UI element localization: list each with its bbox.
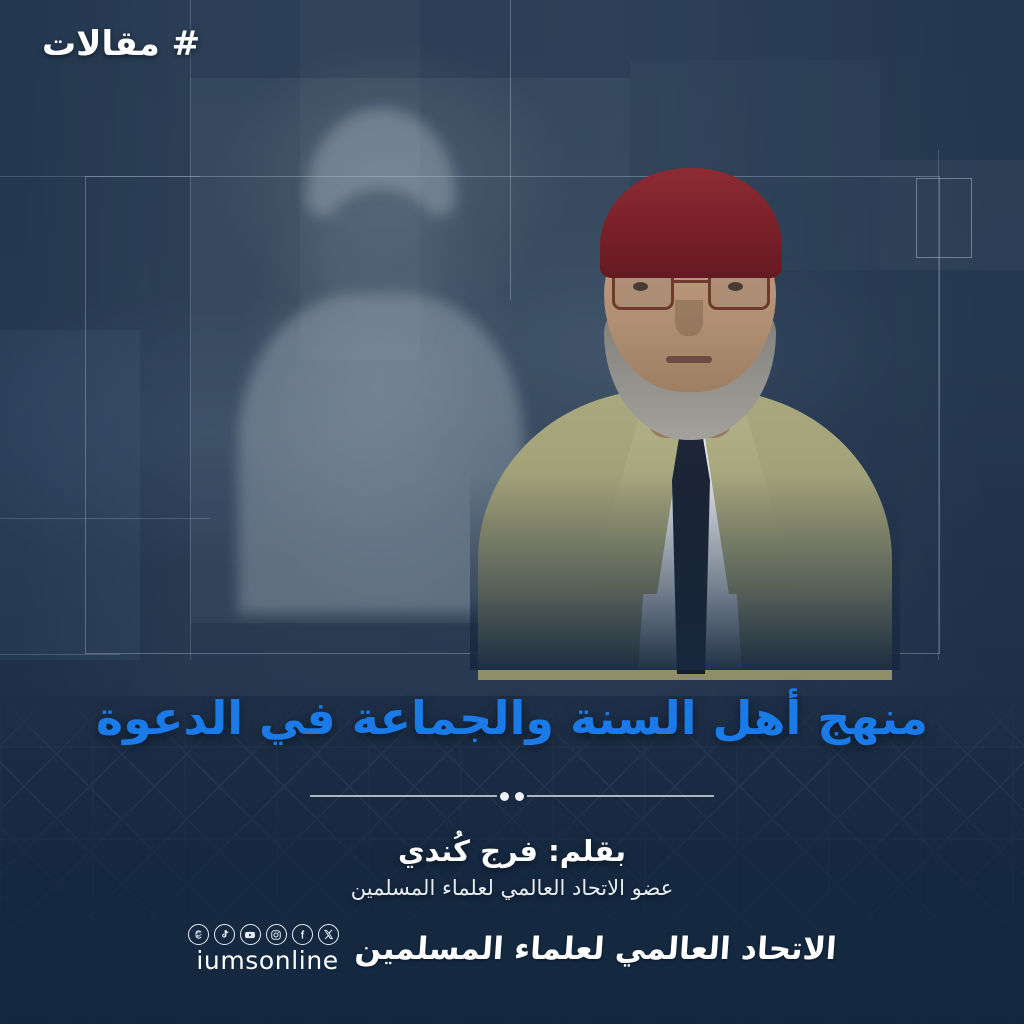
threads-icon[interactable] xyxy=(188,924,209,945)
divider-bar-right xyxy=(527,795,714,797)
tiktok-icon[interactable] xyxy=(214,924,235,945)
divider-bar-left xyxy=(310,795,497,797)
social-icons-row xyxy=(188,924,339,945)
divider-dot-2 xyxy=(500,792,509,801)
author-affiliation: عضو الاتحاد العالمي لعلماء المسلمين xyxy=(0,876,1024,900)
category-hashtag: # مقالات xyxy=(42,24,200,64)
bottom-fade-overlay xyxy=(0,724,1024,1024)
decorative-divider xyxy=(310,790,714,802)
author-byline: بقلم: فرج كُندي xyxy=(0,834,1024,868)
decor-hline-3 xyxy=(0,654,120,655)
x-icon[interactable] xyxy=(318,924,339,945)
article-poster: # مقالات منهج أهل السنة والجماعة في الدع… xyxy=(0,0,1024,1024)
divider-dot-1 xyxy=(515,792,524,801)
decor-corner-square xyxy=(916,178,972,258)
social-handle[interactable]: iumsonline xyxy=(196,948,338,973)
portrait-bottom-blend xyxy=(470,150,900,670)
author-portrait xyxy=(470,150,900,670)
instagram-icon[interactable] xyxy=(266,924,287,945)
youtube-icon[interactable] xyxy=(240,924,261,945)
facebook-icon[interactable] xyxy=(292,924,313,945)
social-brand-block: iumsonline xyxy=(188,924,339,973)
footer-branding: الاتحاد العالمي لعلماء المسلمين xyxy=(0,924,1024,973)
article-title: منهج أهل السنة والجماعة في الدعوة xyxy=(0,690,1024,748)
organization-calligraphy-logo: الاتحاد العالمي لعلماء المسلمين xyxy=(354,931,838,967)
